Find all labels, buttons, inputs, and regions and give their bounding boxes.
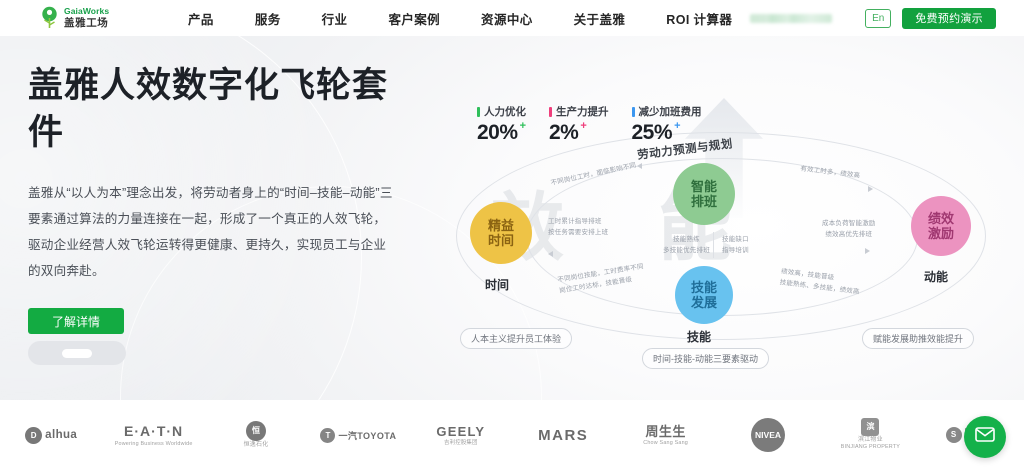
- node-line-1: 技能: [691, 280, 717, 295]
- stat-value: 20% +: [477, 121, 518, 145]
- nav-item-resources[interactable]: 资源中心: [481, 9, 533, 28]
- stat-productivity-gain: 生产力提升 2% +: [549, 104, 609, 145]
- client-logo-binjiang: 滨 滨江物业 BINJIANG PROPERTY: [819, 413, 921, 457]
- stats-row: 人力优化 20% + 生产力提升 2% +: [477, 104, 725, 145]
- client-logo-sublabel: BINJIANG PROPERTY: [841, 444, 900, 451]
- axis-label-skill: 技能: [687, 328, 711, 345]
- book-demo-button[interactable]: 免费预约演示: [902, 8, 996, 29]
- learn-more-button[interactable]: 了解详情: [28, 308, 124, 334]
- pill-enablement-growth: 赋能发展助推效能提升: [862, 328, 974, 349]
- node-line-2: 发展: [691, 295, 717, 310]
- nav-item-products[interactable]: 产品: [188, 9, 214, 28]
- dahua-mark-icon: D: [25, 427, 42, 444]
- landing-page: GaiaWorks 盖雅工场 产品 服务 行业 客户案例 资源中心 关于盖雅 R…: [0, 0, 1024, 470]
- stat-workforce-optimization: 人力优化 20% +: [477, 104, 526, 145]
- client-logo-eaton: E·A·T·N Powering Business Worldwide: [102, 413, 204, 457]
- stat-color-bar: [632, 107, 635, 117]
- site-header: GaiaWorks 盖雅工场 产品 服务 行业 客户案例 资源中心 关于盖雅 R…: [0, 0, 1024, 36]
- annotation-line: 技能缺口: [722, 234, 749, 245]
- client-logo-label: GEELY: [436, 423, 485, 441]
- node-line-2: 时间: [488, 233, 514, 248]
- arrow-head-right-icon: [868, 186, 873, 192]
- annotation-cost-incentive-pair: 成本负荷智能激励 绩效高优先排班: [822, 218, 876, 241]
- node-line-1: 绩效: [928, 211, 954, 226]
- redacted-header-element: [750, 14, 832, 23]
- node-line-1: 智能: [691, 179, 717, 194]
- stat-number: 25%: [632, 121, 673, 144]
- node-line-1: 精益: [488, 218, 514, 233]
- annotation-skill-proficient: 技能熟练 多技能优先排班: [663, 234, 710, 257]
- stat-label: 减少加班费用: [639, 104, 702, 119]
- client-logo-faw-toyota: T 一汽TOYOTA: [307, 413, 409, 457]
- binjiang-mark-icon: 滨: [861, 418, 879, 436]
- arrow-head-left-icon: [548, 251, 553, 257]
- main-nav: 产品 服务 行业 客户案例 资源中心 关于盖雅 ROI 计算器: [188, 9, 773, 28]
- brand-logo-link[interactable]: GaiaWorks 盖雅工场: [40, 6, 160, 30]
- annotation-line: 指导培训: [722, 245, 749, 256]
- client-logo-mars: MARS: [512, 413, 614, 457]
- nav-item-services[interactable]: 服务: [255, 9, 281, 28]
- client-logo-sublabel: Powering Business Worldwide: [115, 441, 193, 448]
- client-logo-nivea: NIVEA: [717, 413, 819, 457]
- brand-name-en: GaiaWorks: [64, 7, 109, 17]
- client-logo-strip: D alhua E·A·T·N Powering Business Worldw…: [0, 400, 1024, 470]
- stat-suffix: +: [674, 120, 680, 132]
- client-logo-label: E·A·T·N: [124, 422, 183, 441]
- client-logo-label: 滨江物业: [858, 436, 883, 444]
- sinotrans-mark-icon: S: [946, 427, 962, 443]
- client-logo-chow-sang-sang: 周生生 Chow Sang Sang: [614, 413, 716, 457]
- stat-suffix: +: [520, 120, 526, 132]
- carousel-active-dot: [62, 349, 92, 358]
- pill-three-elements: 时间-技能-动能三要素驱动: [642, 348, 769, 369]
- annotation-time-scheduling-pair: 工时累计指导排班 按任务需要安排上班: [548, 216, 608, 239]
- hengyi-mark-icon: 恒: [246, 421, 266, 441]
- stat-number: 2%: [549, 121, 578, 144]
- nivea-badge-icon: NIVEA: [751, 418, 785, 452]
- carousel-indicator[interactable]: [28, 341, 126, 365]
- client-logo-sublabel: 吉利控股集团: [444, 440, 478, 447]
- client-logo-sublabel: Chow Sang Sang: [643, 440, 688, 447]
- annotation-line: 技能熟练: [663, 234, 710, 245]
- node-smart-scheduling[interactable]: 智能 排班: [673, 163, 735, 225]
- node-line-2: 激励: [928, 226, 954, 241]
- client-logo-geely: GEELY 吉利控股集团: [410, 413, 512, 457]
- stat-value: 2% +: [549, 121, 578, 145]
- language-toggle-button[interactable]: En: [865, 9, 891, 28]
- client-logo-label: 恒逸石化: [244, 441, 269, 449]
- nav-item-cases[interactable]: 客户案例: [388, 9, 440, 28]
- nav-item-industry[interactable]: 行业: [322, 9, 348, 28]
- stat-label: 生产力提升: [556, 104, 609, 119]
- annotation-divider: [713, 232, 714, 258]
- pill-humanism-experience: 人本主义提升员工体验: [460, 328, 572, 349]
- contact-email-fab[interactable]: [964, 416, 1006, 458]
- stat-label: 人力优化: [484, 104, 526, 119]
- stat-number: 20%: [477, 121, 518, 144]
- annotation-line: 成本负荷智能激励: [822, 218, 876, 229]
- annotation-skill-gap: 技能缺口 指导培训: [722, 234, 749, 257]
- node-line-2: 排班: [691, 194, 717, 209]
- stat-overtime-reduction: 减少加班费用 25% +: [632, 104, 702, 145]
- annotation-line: 工时累计指导排班: [548, 216, 608, 227]
- stat-color-bar: [549, 107, 552, 117]
- client-logo-label: 周生生: [646, 423, 686, 441]
- hero-copy: 盖雅人效数字化飞轮套件 盖雅从“以人为本”理念出发，将劳动者身上的“时间–技能–…: [28, 63, 393, 334]
- axis-label-energy: 动能: [924, 268, 948, 285]
- stat-value: 25% +: [632, 121, 673, 145]
- node-performance-incentive[interactable]: 绩效 激励: [911, 196, 971, 256]
- client-logo-dahua: D alhua: [0, 413, 102, 457]
- client-logo-label: alhua: [45, 429, 77, 441]
- stat-suffix: +: [580, 120, 586, 132]
- nav-item-about[interactable]: 关于盖雅: [574, 9, 626, 28]
- nav-item-roi-calculator[interactable]: ROI 计算器: [666, 9, 732, 28]
- annotation-line: 绩效高优先排班: [822, 229, 876, 240]
- flywheel-diagram: 效能 人力优化 20% +: [430, 36, 1024, 400]
- hero-description: 盖雅从“以人为本”理念出发，将劳动者身上的“时间–技能–动能”三要素通过算法的力…: [28, 181, 393, 284]
- annotation-line: 多技能优先排班: [663, 245, 710, 256]
- annotation-line: 按任务需要安排上班: [548, 227, 608, 238]
- hero-section: 盖雅人效数字化飞轮套件 盖雅从“以人为本”理念出发，将劳动者身上的“时间–技能–…: [0, 36, 1024, 400]
- arrow-head-right2-icon: [865, 248, 870, 254]
- hero-title: 盖雅人效数字化飞轮套件: [28, 63, 393, 156]
- client-logo-label: MARS: [538, 427, 588, 444]
- axis-label-time: 时间: [485, 276, 509, 293]
- node-lean-time[interactable]: 精益 时间: [470, 202, 532, 264]
- client-logo-label: 一汽TOYOTA: [338, 429, 396, 442]
- email-icon: [975, 427, 995, 447]
- arrow-head-left2-icon: [637, 163, 642, 169]
- stat-color-bar: [477, 107, 480, 117]
- toyota-mark-icon: T: [320, 428, 335, 443]
- node-skill-development[interactable]: 技能 发展: [675, 266, 733, 324]
- tree-logo-icon: [40, 6, 59, 30]
- client-logo-hengyi: 恒 恒逸石化: [205, 413, 307, 457]
- client-logo-label: NIVEA: [755, 430, 781, 440]
- header-actions: En 免费预约演示: [750, 0, 996, 36]
- brand-name-cn: 盖雅工场: [64, 17, 109, 29]
